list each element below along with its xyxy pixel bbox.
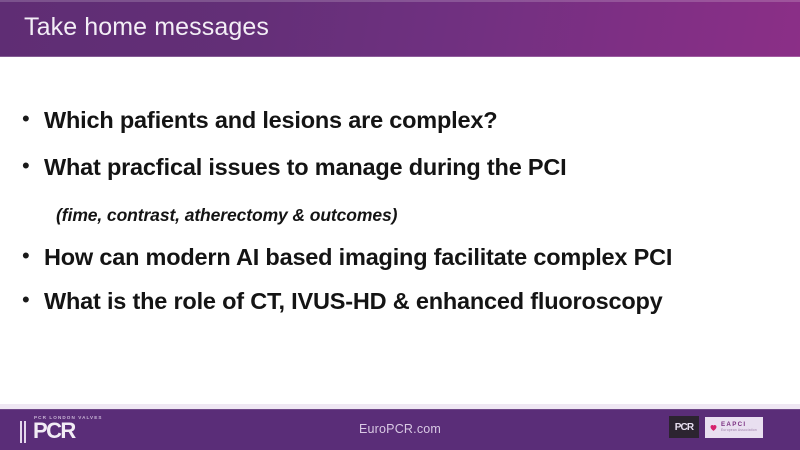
header-top-highlight xyxy=(0,0,800,2)
list-item: • What is the role of CT, IVUS-HD & enha… xyxy=(16,289,663,314)
pcr-badge-logo: PCR xyxy=(669,416,699,438)
list-item-label: What is the role of CT, IVUS-HD & enhanc… xyxy=(44,289,663,314)
list-item: • What pracﬁcal issues to manage during … xyxy=(16,155,566,180)
slide-header-band: Take home messages xyxy=(0,0,800,57)
list-item-label: How can modern AI based imaging facilita… xyxy=(44,245,672,270)
slide-content: • Which paﬁents and lesions are complex?… xyxy=(0,57,800,403)
eapci-badge-sublabel: European Association xyxy=(721,429,757,432)
eapci-badge-text: EAPCI European Association xyxy=(721,422,757,433)
footer-logo-cluster: PCR EAPCI European Association xyxy=(669,416,763,438)
page-title: Take home messages xyxy=(24,13,269,42)
bullet-marker-icon: • xyxy=(16,245,44,267)
list-item-label: Which paﬁents and lesions are complex? xyxy=(44,108,497,133)
list-item: • How can modern AI based imaging facili… xyxy=(16,245,672,270)
heart-icon xyxy=(709,423,718,432)
list-item-label: What pracﬁcal issues to manage during th… xyxy=(44,155,566,180)
bullet-marker-icon: • xyxy=(16,108,44,130)
slide: Take home messages • Which paﬁents and l… xyxy=(0,0,800,450)
bullet-marker-icon: • xyxy=(16,155,44,177)
list-item-subnote: (ﬁme, contrast, atherectomy & outcomes) xyxy=(56,205,397,226)
bullet-marker-icon: • xyxy=(16,289,44,311)
slide-footer: PCR LONDON VALVES PCR EuroPCR.com PCR EA… xyxy=(0,409,800,450)
list-item: • Which paﬁents and lesions are complex? xyxy=(16,108,497,133)
footer-top-hairline xyxy=(0,409,800,410)
eapci-badge-logo: EAPCI European Association xyxy=(705,417,763,438)
pcr-badge-label: PCR xyxy=(675,422,693,433)
